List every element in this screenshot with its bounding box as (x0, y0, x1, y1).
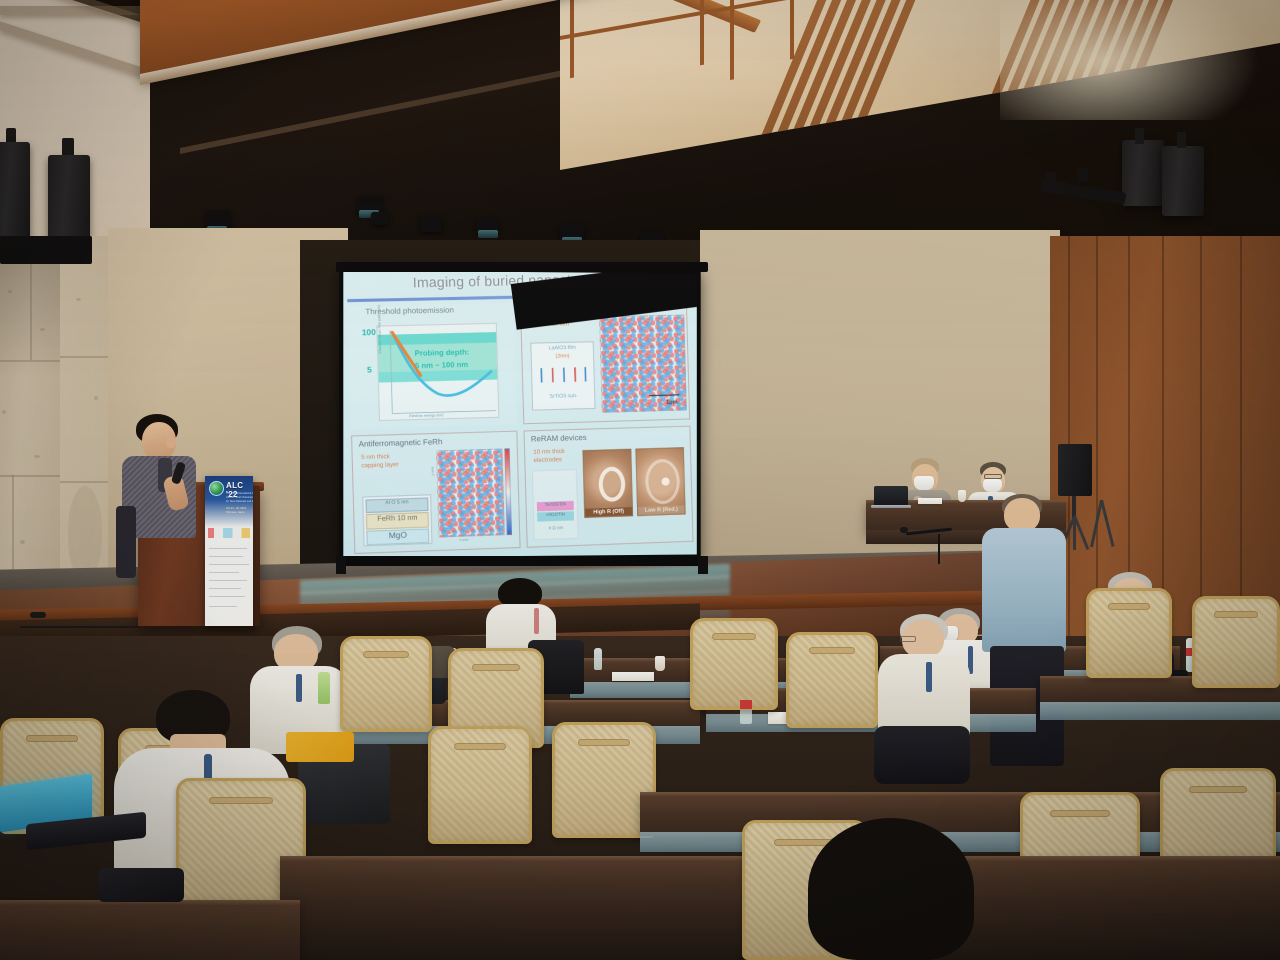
banner-date: Oct 23 - 28, 2022 (226, 507, 246, 510)
device-on-table (98, 868, 184, 902)
stage-light-icon (476, 218, 498, 234)
ceiling-speaker-right-b (1162, 146, 1204, 216)
cable (20, 626, 140, 628)
image-caption: High R (Off) (585, 507, 632, 517)
screen-housing-top (336, 262, 708, 272)
chair-back (340, 636, 432, 732)
paper-sheet (918, 498, 942, 504)
projection-screen: Imaging of buried nanostructures Thresho… (339, 266, 700, 561)
stage-light-icon (205, 210, 231, 230)
jacket (874, 726, 970, 784)
banner-subtitle-2: Atomic Level Characterizations (226, 496, 253, 499)
scale-bar (649, 394, 679, 396)
reram-micrograph-high-r: High R (Off) (582, 449, 633, 518)
map-ylabel: y axis (430, 467, 434, 476)
map-xlabel: x axis (459, 537, 468, 541)
chart-tick-100: 100 (362, 328, 376, 338)
speaker-bracket (1135, 128, 1144, 144)
chair-back (690, 618, 778, 710)
bottle-label (740, 700, 752, 709)
layer-stack-diagram: Ta2O5/TiN HfO2/TiN # Ω nm (532, 469, 579, 540)
banner-color-strip (208, 528, 250, 538)
panel-note: 10 nm thick electrodes (533, 448, 565, 466)
lanyard (926, 662, 932, 692)
torso-shirt (982, 528, 1066, 652)
stage-light-icon (420, 216, 442, 232)
pem-image-ferh (436, 449, 505, 538)
light-bracket (1046, 172, 1056, 186)
floor-speaker (1058, 444, 1092, 496)
lecture-hall-photo: Imaging of buried nanostructures Thresho… (0, 0, 1280, 960)
stack-row-label: SrTiO3 sub. (535, 394, 592, 401)
banner-place: Shimane, Japan (226, 511, 245, 514)
paper-sheet (612, 672, 654, 681)
tripod-leg (1073, 516, 1076, 550)
audience-table-front-left (0, 900, 300, 960)
probing-depth-chart: Electron mean free path (nm) Electron en… (376, 323, 499, 421)
screen-bracket-right (698, 556, 708, 574)
lanyard (296, 674, 302, 702)
drink-cup (655, 656, 665, 671)
screen-housing-bottom (336, 556, 708, 566)
chair-back (428, 726, 532, 844)
water-bottle (594, 648, 602, 670)
microphone-icon (900, 527, 908, 533)
cable-connector (30, 612, 46, 618)
chair-back (1192, 596, 1280, 688)
stage-light-icon (560, 224, 584, 241)
chair-back (1086, 588, 1172, 678)
image-caption: Low R (Red.) (638, 505, 685, 515)
probing-depth-callout-1: Probing depth: (415, 346, 470, 359)
slide-panel-reram: ReRAM devices 10 nm thick electrodes Ta2… (523, 426, 693, 548)
ceiling-speaker-right-a (1122, 140, 1164, 206)
water-bottle (318, 672, 330, 704)
screen-surface: Imaging of buried nanostructures Thresho… (343, 270, 696, 557)
reram-micrograph-low-r: Low R (Red.) (635, 447, 685, 516)
face-mask (914, 476, 934, 490)
probing-depth-callout-2: 5 nm ~ 100 nm (415, 359, 468, 372)
layer-stack-diagram: Al O 5 nm FeRh 10 nm MgO (362, 494, 432, 546)
banner-subtitle-3: for New Materials and Devices (226, 500, 253, 503)
eyeglasses-icon (900, 636, 916, 642)
slide-panel-threshold-photoemission: Threshold photoemission Electron mea (347, 303, 517, 429)
banner-subtitle-1: The 15th International Symposium on (226, 492, 253, 495)
head (1004, 498, 1040, 532)
leg (116, 506, 136, 578)
microphone-stand (938, 534, 940, 564)
slide-panel-ferh: Antiferromagnetic FeRh 5 nm thick cappin… (351, 431, 521, 554)
panel-heading: ReRAM devices (531, 433, 587, 444)
colorbar (504, 448, 512, 535)
laptop-base (871, 505, 911, 508)
speaker-bracket (62, 138, 74, 156)
speaker-bracket (1177, 132, 1186, 148)
yellow-folder (286, 732, 354, 762)
chart-tick-5: 5 (367, 365, 372, 374)
drink-cup (958, 490, 966, 502)
conference-logo-icon (209, 481, 224, 496)
chair-back (786, 632, 878, 728)
stage-light-icon (371, 212, 389, 225)
screen-bracket-left (336, 556, 346, 574)
light-bracket (1078, 168, 1088, 182)
lanyard (534, 608, 539, 634)
laptop-icon (874, 486, 908, 506)
panel-heading: Antiferromagnetic FeRh (359, 437, 443, 449)
stack-row-sublabel: (2nm) (534, 354, 591, 361)
stack-row-label: LaAlO3 film (533, 345, 590, 352)
ceiling-glow (1000, 0, 1260, 120)
wall-monitor (0, 236, 92, 264)
table-apron (1040, 702, 1280, 720)
stack-row-label: # Ω nm (536, 525, 575, 531)
face-mask (983, 479, 1002, 492)
scale-bar-label: 1µm (666, 399, 678, 405)
conference-banner: ALC '22 The 15th International Symposium… (205, 476, 253, 626)
universal-curve (377, 324, 500, 422)
pem-image-lao-sto: 1µm (599, 315, 687, 413)
panel-note: 5 nm thick capping layer (361, 453, 399, 471)
layer-stack-diagram: LaAlO3 film (2nm) SrTiO3 sub. (530, 341, 595, 410)
hair (808, 818, 974, 960)
face-profile (166, 436, 176, 448)
